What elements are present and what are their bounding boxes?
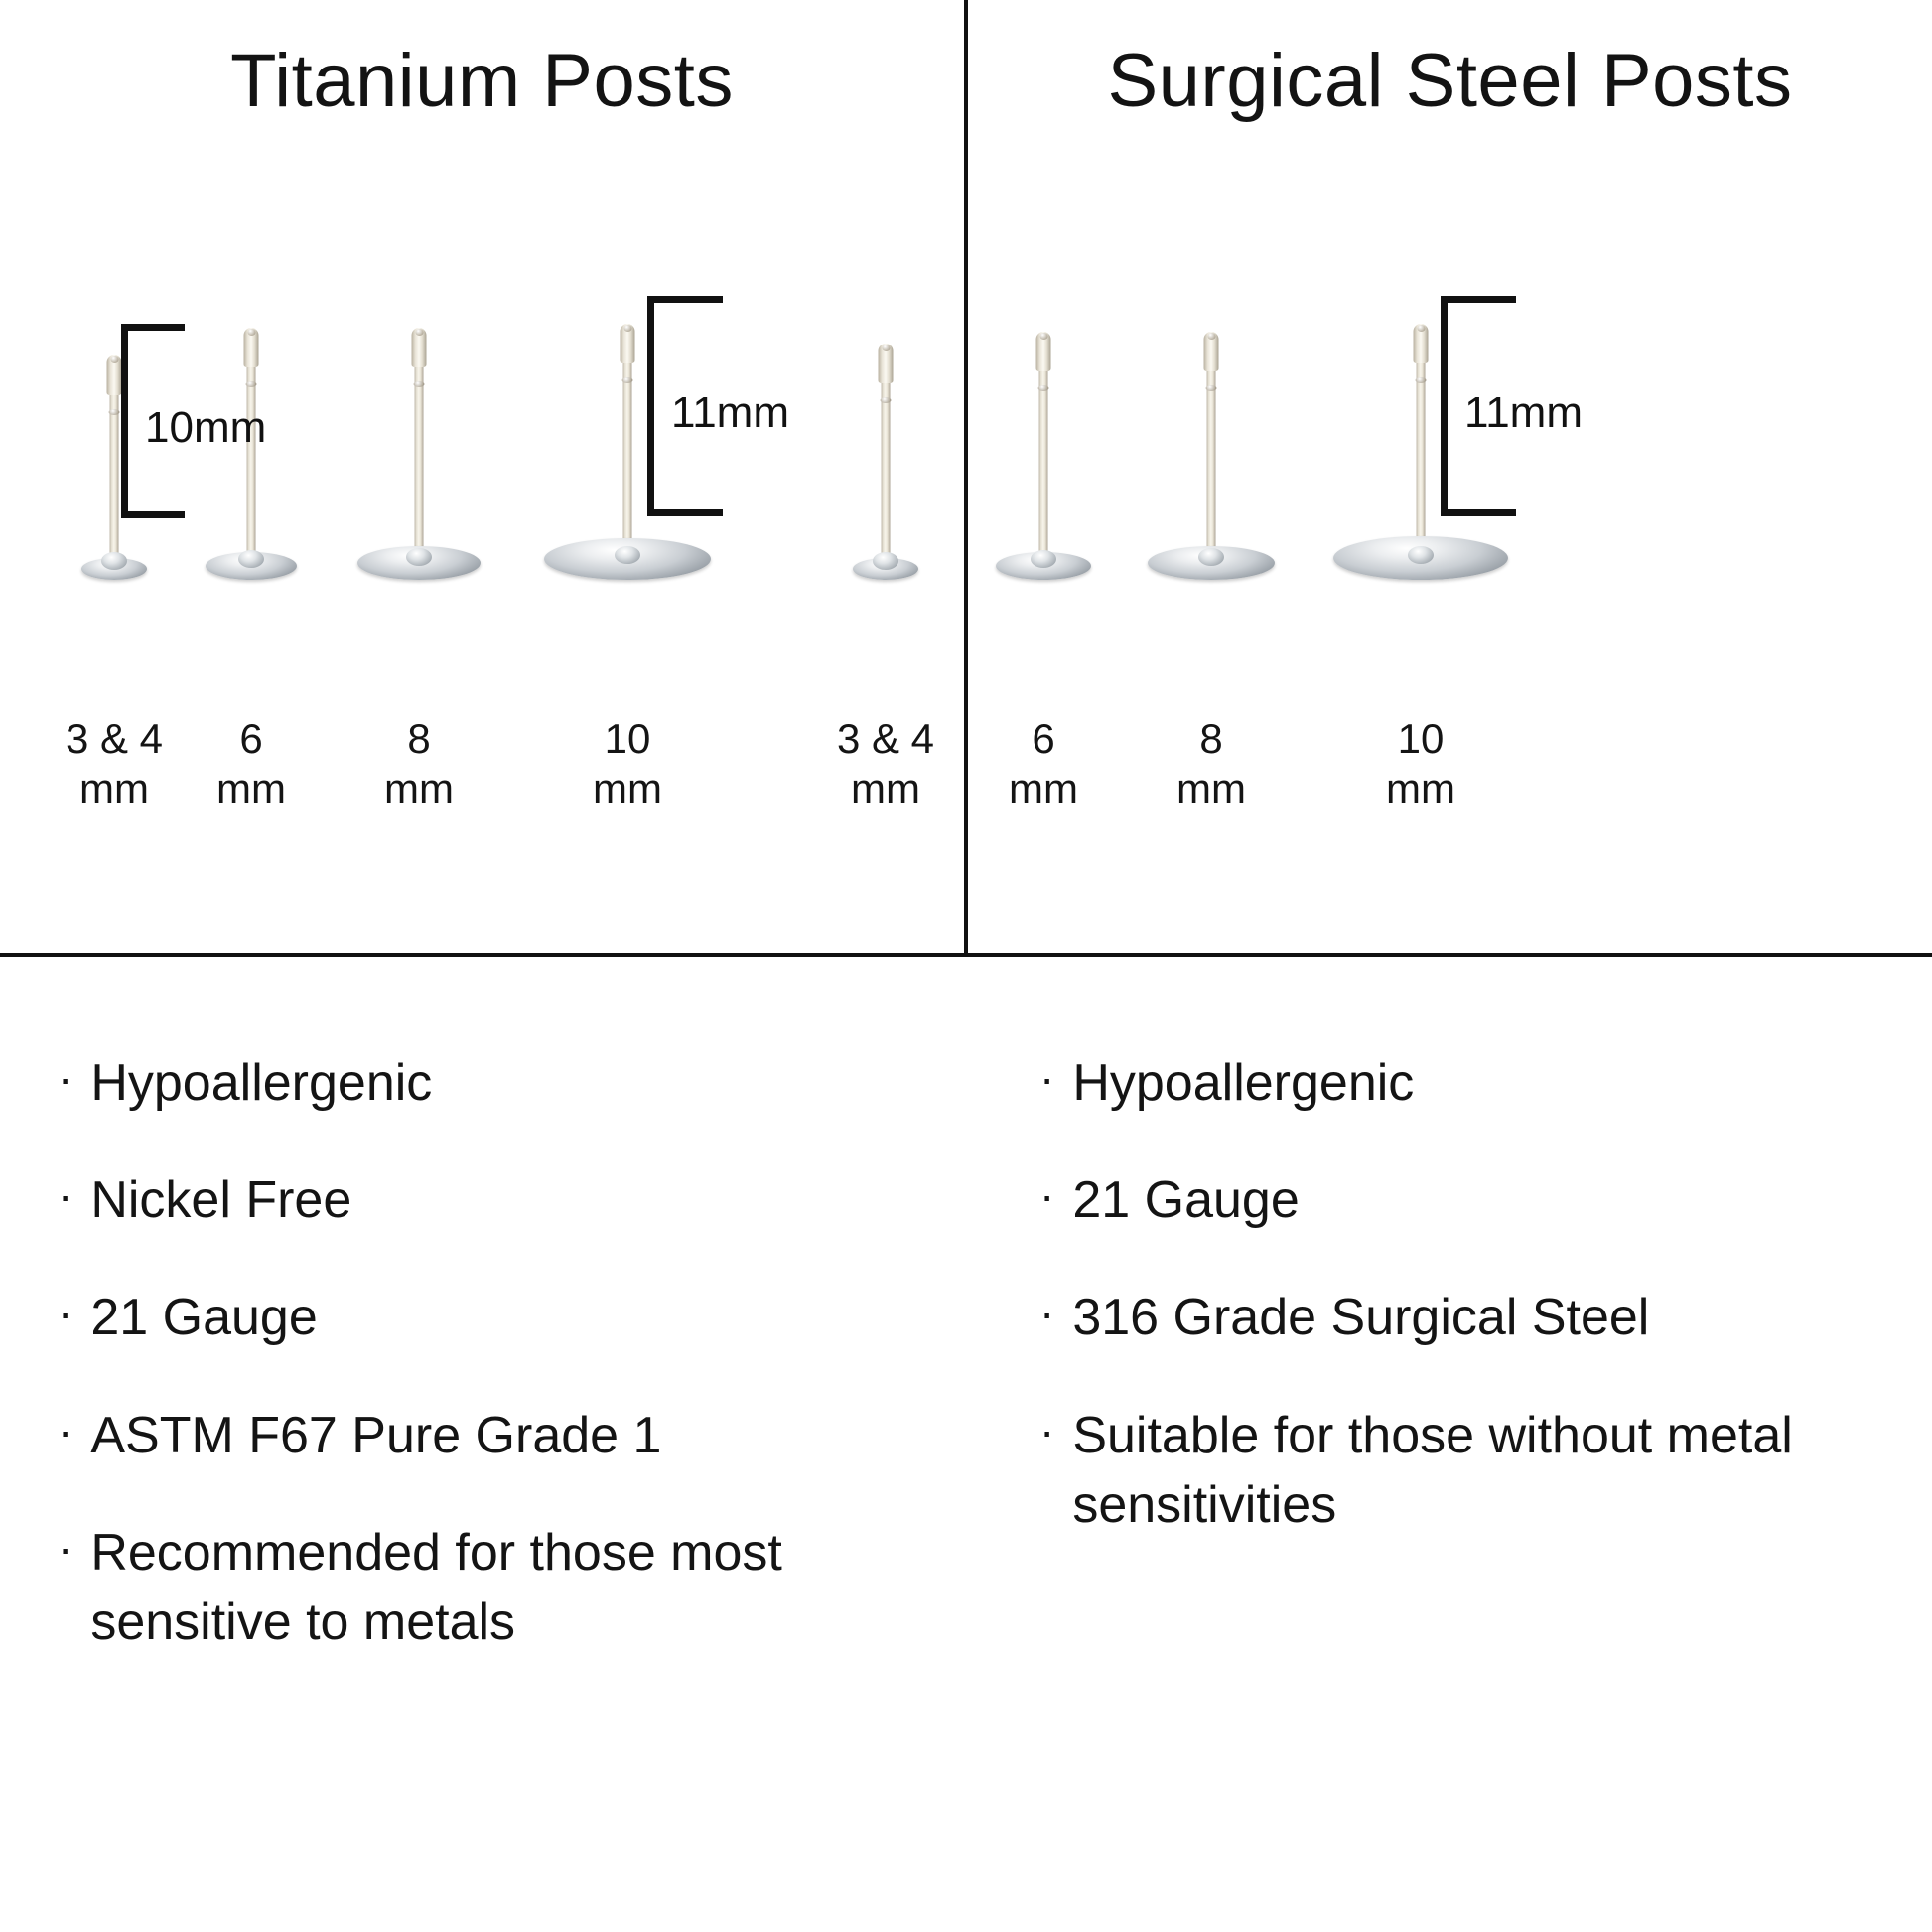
bracket-label-11mm-right: 11mm	[1464, 388, 1583, 438]
post-specimen-8mm	[340, 298, 498, 586]
size-unit: mm	[216, 763, 286, 814]
bullet-icon: ·	[58, 1283, 72, 1343]
size-caption-3-4mm: 3 & 4 mm	[66, 713, 163, 814]
size-value: 8	[407, 715, 430, 761]
size-unit: mm	[66, 763, 163, 814]
bullet-icon: ·	[1039, 1283, 1054, 1343]
post-specimen-8mm	[1132, 298, 1291, 586]
size-value: 3 & 4	[837, 715, 934, 761]
feature-text: Suitable for those without metal sensiti…	[1072, 1401, 1827, 1540]
size-value: 3 & 4	[66, 715, 163, 761]
feature-text: Hypoallergenic	[1072, 1048, 1827, 1118]
feature-text: 316 Grade Surgical Steel	[1072, 1283, 1827, 1352]
feature-text: Hypoallergenic	[90, 1048, 845, 1118]
list-item: · Hypoallergenic	[58, 1048, 924, 1118]
feature-text: 21 Gauge	[1072, 1166, 1827, 1235]
feature-list-titanium: · Hypoallergenic · Nickel Free · 21 Gaug…	[58, 1048, 924, 1705]
list-item: · 21 Gauge	[1039, 1166, 1892, 1235]
size-caption-8mm: 8 mm	[384, 713, 454, 814]
panel-surgical-steel-features: · Hypoallergenic · 21 Gauge · 316 Grade …	[968, 957, 1932, 1932]
list-item: · Hypoallergenic	[1039, 1048, 1892, 1118]
size-unit: mm	[384, 763, 454, 814]
size-value: 6	[239, 715, 262, 761]
post-specimen-6mm	[964, 298, 1123, 586]
list-item: · Nickel Free	[58, 1166, 924, 1235]
bracket-label-11mm-left: 11mm	[671, 388, 789, 438]
size-unit: mm	[837, 763, 934, 814]
measurement-bracket-10mm: 10mm	[121, 324, 320, 522]
list-item: · Recommended for those most sensitive t…	[58, 1518, 924, 1657]
feature-text: Recommended for those most sensitive to …	[90, 1518, 845, 1657]
size-caption-6mm: 6 mm	[216, 713, 286, 814]
bullet-icon: ·	[1039, 1166, 1054, 1226]
feature-text: Nickel Free	[90, 1166, 845, 1235]
feature-text: 21 Gauge	[90, 1283, 845, 1352]
feature-text: ASTM F67 Pure Grade 1	[90, 1401, 845, 1470]
bullet-icon: ·	[58, 1048, 72, 1109]
bullet-icon: ·	[58, 1166, 72, 1226]
bullet-icon: ·	[1039, 1401, 1054, 1461]
size-caption-10mm: 10 mm	[1386, 713, 1455, 814]
size-unit: mm	[1176, 763, 1246, 814]
size-caption-3-4mm: 3 & 4 mm	[837, 713, 934, 814]
size-unit: mm	[1009, 763, 1078, 814]
comparison-infographic: Titanium Posts	[0, 0, 1932, 1932]
post-specimen-3-4mm	[806, 298, 965, 586]
list-item: · Suitable for those without metal sensi…	[1039, 1401, 1892, 1540]
measurement-bracket-11mm-right: 11mm	[1441, 296, 1639, 524]
size-caption-10mm: 10 mm	[593, 713, 662, 814]
bracket-label-10mm: 10mm	[145, 403, 266, 453]
list-item: · ASTM F67 Pure Grade 1	[58, 1401, 924, 1470]
panel-titanium-features: · Hypoallergenic · Nickel Free · 21 Gaug…	[0, 957, 964, 1932]
size-value: 6	[1032, 715, 1054, 761]
bullet-icon: ·	[58, 1401, 72, 1461]
feature-list-surgical-steel: · Hypoallergenic · 21 Gauge · 316 Grade …	[1039, 1048, 1892, 1587]
bullet-icon: ·	[58, 1518, 72, 1579]
size-value: 10	[1398, 715, 1445, 761]
size-caption-8mm: 8 mm	[1176, 713, 1246, 814]
size-unit: mm	[1386, 763, 1455, 814]
list-item: · 316 Grade Surgical Steel	[1039, 1283, 1892, 1352]
page-title-titanium: Titanium Posts	[0, 38, 964, 124]
list-item: · 21 Gauge	[58, 1283, 924, 1352]
size-value: 8	[1199, 715, 1222, 761]
size-unit: mm	[593, 763, 662, 814]
bullet-icon: ·	[1039, 1048, 1054, 1109]
size-value: 10	[605, 715, 651, 761]
panel-surgical-steel-top: Surgical Steel Posts	[968, 0, 1932, 953]
page-title-surgical-steel: Surgical Steel Posts	[968, 38, 1932, 124]
size-caption-6mm: 6 mm	[1009, 713, 1078, 814]
